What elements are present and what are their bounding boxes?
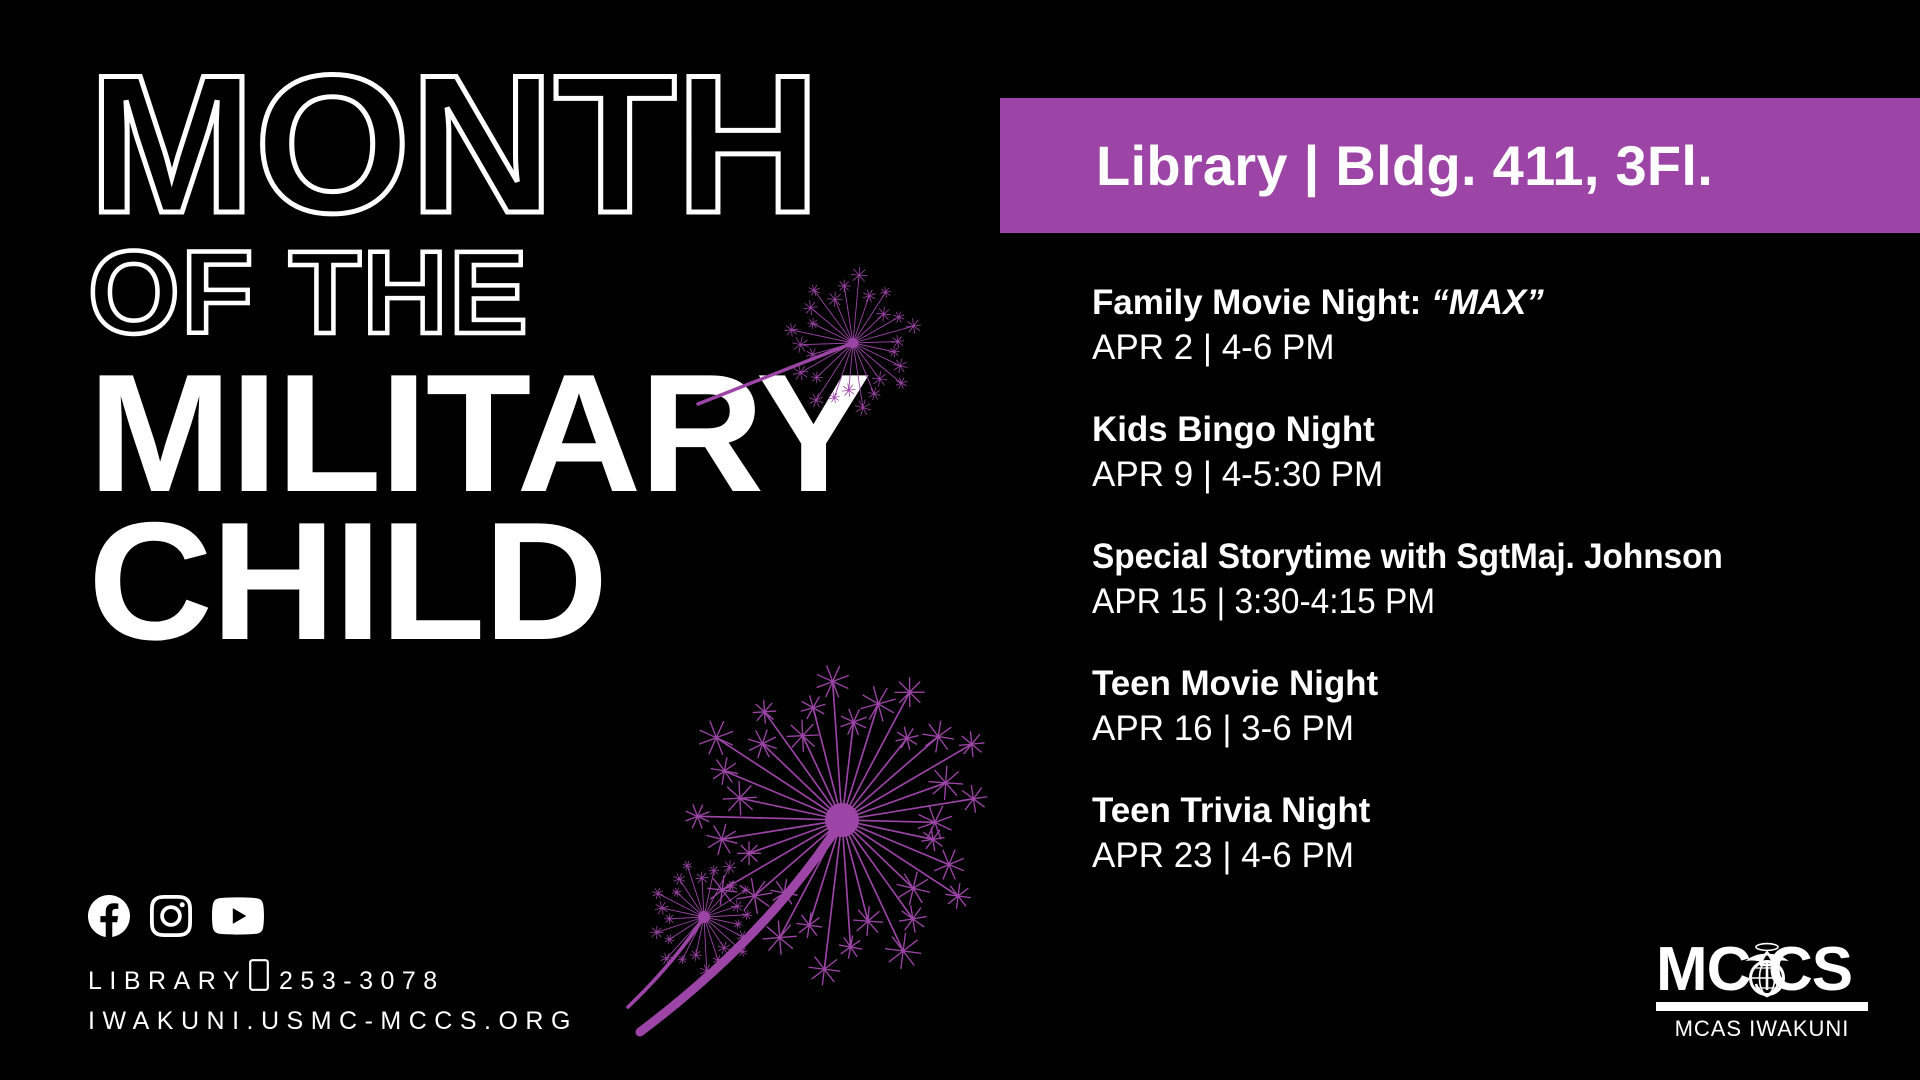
event-date: APR 15 | 3:30-4:15 PM	[1092, 580, 1875, 624]
location-banner-label: Library | Bldg. 411, 3Fl.	[1096, 133, 1713, 198]
mccs-subtitle: MCAS IWAKUNI	[1656, 1016, 1868, 1042]
youtube-icon[interactable]	[212, 895, 264, 937]
poster-canvas: MONTH OF THE MILITARY CHILD	[0, 0, 1920, 1080]
event-film-title: “MAX”	[1431, 283, 1543, 322]
headline-line-child: CHILD	[88, 509, 1046, 653]
mccs-logo: MC CS	[1656, 938, 1868, 1042]
event-date: APR 9 | 4-5:30 PM	[1092, 453, 1912, 497]
location-banner: Library | Bldg. 411, 3Fl.	[1000, 98, 1920, 233]
event-title-text: Teen Trivia Night	[1092, 791, 1370, 830]
event-title: Teen Movie Night	[1092, 663, 1912, 705]
event-title-text: Family Movie Night:	[1092, 283, 1421, 322]
facebook-icon[interactable]	[88, 895, 130, 937]
contact-phone-number[interactable]: 253-3078	[279, 962, 445, 1000]
list-item[interactable]: Teen Movie Night APR 16 | 3-6 PM	[1092, 663, 1912, 751]
list-item[interactable]: Teen Trivia Night APR 23 | 4-6 PM	[1092, 790, 1912, 878]
event-title: Special Storytime with SgtMaj. Johnson	[1092, 536, 1875, 578]
dandelion-top-icon	[690, 258, 940, 438]
event-list: Family Movie Night:“MAX” APR 2 | 4-6 PM …	[1092, 282, 1912, 878]
event-title: Teen Trivia Night	[1092, 790, 1912, 832]
mccs-wordmark: MC CS	[1656, 938, 1868, 998]
event-title: Family Movie Night:“MAX”	[1092, 282, 1912, 324]
mobile-phone-icon	[249, 959, 269, 1002]
event-date: APR 23 | 4-6 PM	[1092, 834, 1912, 878]
social-icon-row	[88, 895, 688, 937]
list-item[interactable]: Special Storytime with SgtMaj. Johnson A…	[1092, 536, 1912, 624]
left-column: MONTH OF THE MILITARY CHILD	[0, 0, 1010, 1080]
contact-block: LIBRARY 253-3078 IWAKUNI.USMC-MCCS.ORG	[88, 895, 688, 1040]
right-column: Library | Bldg. 411, 3Fl. Family Movie N…	[1000, 0, 1920, 1080]
list-item[interactable]: Kids Bingo Night APR 9 | 4-5:30 PM	[1092, 409, 1912, 497]
event-date: APR 16 | 3-6 PM	[1092, 707, 1912, 751]
instagram-icon[interactable]	[150, 895, 192, 937]
mccs-divider-rule	[1656, 1002, 1868, 1011]
event-title: Kids Bingo Night	[1092, 409, 1912, 451]
contact-phone-label: LIBRARY	[88, 962, 247, 1000]
event-title-text: Kids Bingo Night	[1092, 410, 1375, 449]
headline-line-month: MONTH	[88, 60, 1037, 229]
contact-website[interactable]: IWAKUNI.USMC-MCCS.ORG	[88, 1002, 688, 1040]
event-title-text: Teen Movie Night	[1092, 664, 1378, 703]
mccs-wordmark-left: MC	[1656, 938, 1751, 998]
list-item[interactable]: Family Movie Night:“MAX” APR 2 | 4-6 PM	[1092, 282, 1912, 370]
contact-phone-line: LIBRARY 253-3078	[88, 959, 688, 1002]
event-title-text: Special Storytime with SgtMaj. Johnson	[1092, 537, 1723, 576]
event-date: APR 2 | 4-6 PM	[1092, 326, 1912, 370]
